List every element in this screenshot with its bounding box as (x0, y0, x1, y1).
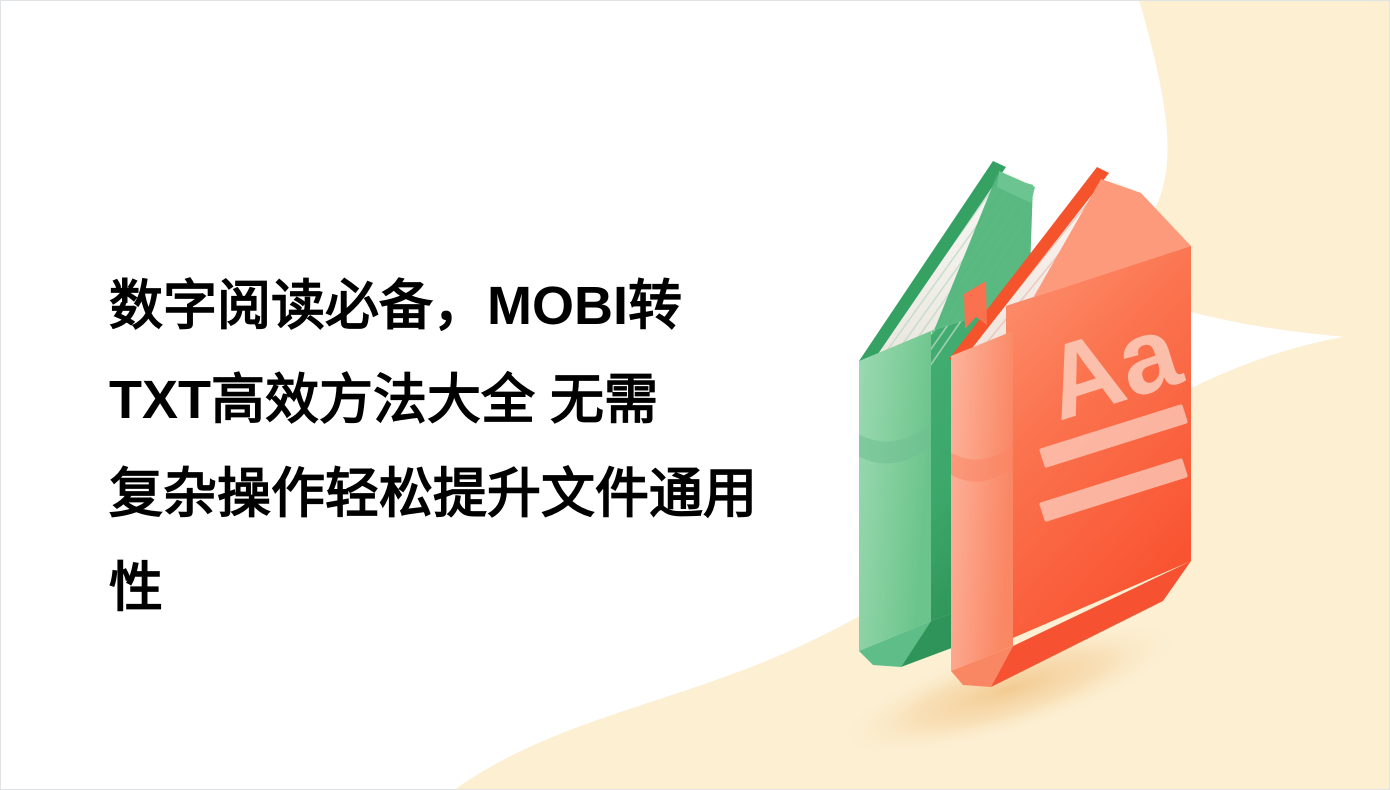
banner-canvas: 数字阅读必备，MOBI转 TXT高效方法大全 无需 复杂操作轻松提升文件通用 性 (0, 0, 1390, 790)
headline-line-3: 复杂操作轻松提升文件通用 (109, 447, 869, 541)
red-book-spine (951, 331, 1013, 671)
green-book-spine (859, 331, 931, 651)
headline-line-2: TXT高效方法大全 无需 (109, 353, 869, 447)
headline-line-1: 数字阅读必备，MOBI转 (109, 259, 869, 353)
page-title: 数字阅读必备，MOBI转 TXT高效方法大全 无需 复杂操作轻松提升文件通用 性 (109, 259, 869, 635)
headline-line-4: 性 (109, 541, 869, 635)
